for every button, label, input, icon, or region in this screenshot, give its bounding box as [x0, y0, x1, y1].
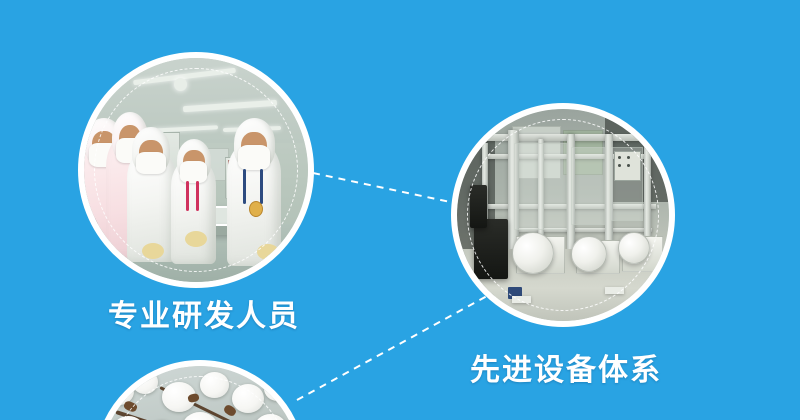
photo-circle-research-staff — [78, 52, 314, 288]
feature-node-raw-cotton[interactable] — [94, 360, 306, 420]
photo-circle-cotton — [94, 360, 306, 420]
photo-cleanroom — [84, 58, 308, 282]
photo-circle-equipment — [451, 103, 675, 327]
photo-factory-machinery — [457, 109, 669, 321]
photo-cotton-bolls — [100, 366, 300, 420]
caption-research-staff: 专业研发人员 — [108, 291, 300, 335]
feature-node-research-staff[interactable] — [78, 52, 314, 288]
feature-node-equipment-system[interactable] — [451, 103, 675, 327]
caption-equipment-system: 先进设备体系 — [470, 345, 662, 389]
promo-banner: 专业研发人员 — [0, 0, 800, 420]
connector-line-node1-node2 — [313, 173, 455, 203]
